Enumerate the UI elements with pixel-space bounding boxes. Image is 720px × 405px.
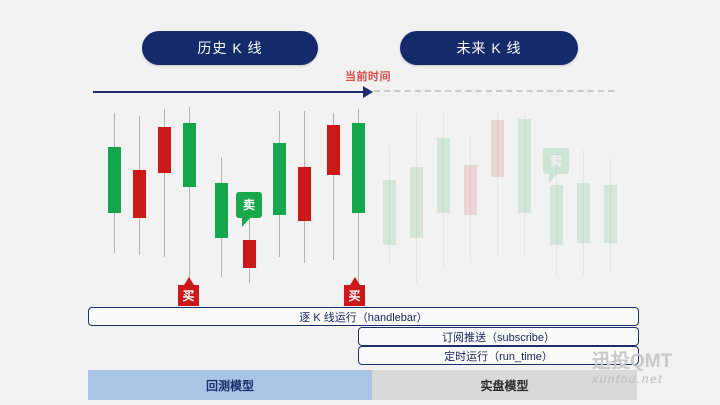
future-candle <box>410 105 423 305</box>
run-mode-subscribe-label: 订阅推送（subscribe） <box>442 329 555 345</box>
future-candle <box>550 105 563 305</box>
run-mode-subscribe[interactable]: 订阅推送（subscribe） <box>358 327 639 346</box>
history-candle <box>215 105 228 305</box>
buy-marker: 买 <box>344 285 365 306</box>
history-candle <box>273 105 286 305</box>
candle-body <box>604 185 617 243</box>
future-candle <box>464 105 477 305</box>
future-candle <box>383 105 396 305</box>
current-time-label: 当前时间 <box>308 68 428 84</box>
candle-body <box>383 180 396 245</box>
buy-marker: 买 <box>178 285 199 306</box>
future-candle <box>577 105 590 305</box>
history-candle <box>298 105 311 305</box>
future-candle <box>518 105 531 305</box>
diagram-canvas: 历史 K 线 未来 K 线 当前时间 逐 K 线运行（handlebar） 订阅… <box>0 0 720 405</box>
timeline-dashed-segment <box>374 90 614 92</box>
candle-body <box>577 183 590 243</box>
footer-backtest-label: 回测模型 <box>206 377 254 394</box>
future-candle <box>491 105 504 305</box>
candlestick-chart <box>0 105 720 305</box>
candle-body <box>298 167 311 221</box>
pill-future-label: 未来 K 线 <box>456 38 521 58</box>
candle-body <box>133 170 146 218</box>
future-candle <box>437 105 450 305</box>
candle-body <box>410 167 423 238</box>
run-mode-runtime-label: 定时运行（run_time） <box>444 348 553 364</box>
footer-live-label: 实盘模型 <box>480 377 528 394</box>
label-pill-future: 未来 K 线 <box>400 31 578 65</box>
candle-body <box>158 127 171 173</box>
run-mode-runtime[interactable]: 定时运行（run_time） <box>358 346 639 365</box>
candle-body <box>437 138 450 213</box>
pill-history-label: 历史 K 线 <box>197 38 262 58</box>
candle-body <box>518 119 531 213</box>
run-mode-handlebar-label: 逐 K 线运行（handlebar） <box>299 309 427 325</box>
candle-body <box>491 120 504 177</box>
future-candle <box>604 105 617 305</box>
candle-body <box>352 123 365 213</box>
candle-body <box>550 185 563 245</box>
history-candle <box>327 105 340 305</box>
candle-body <box>327 125 340 175</box>
history-candle <box>352 105 365 305</box>
candle-body <box>183 123 196 187</box>
sell-marker: 卖 <box>543 148 569 174</box>
label-pill-history: 历史 K 线 <box>142 31 318 65</box>
sell-marker: 卖 <box>236 192 262 218</box>
candle-body <box>108 147 121 213</box>
run-mode-handlebar[interactable]: 逐 K 线运行（handlebar） <box>88 307 639 326</box>
candle-body <box>464 165 477 215</box>
history-candle <box>158 105 171 305</box>
footer-live-model: 实盘模型 <box>372 370 637 400</box>
timeline-arrow-icon <box>363 86 373 98</box>
history-candle <box>108 105 121 305</box>
candle-body <box>273 143 286 215</box>
footer-backtest-model: 回测模型 <box>88 370 372 400</box>
timeline-solid-segment <box>93 91 365 93</box>
history-candle <box>133 105 146 305</box>
candle-body <box>215 183 228 238</box>
candle-body <box>243 240 256 268</box>
history-candle <box>183 105 196 305</box>
